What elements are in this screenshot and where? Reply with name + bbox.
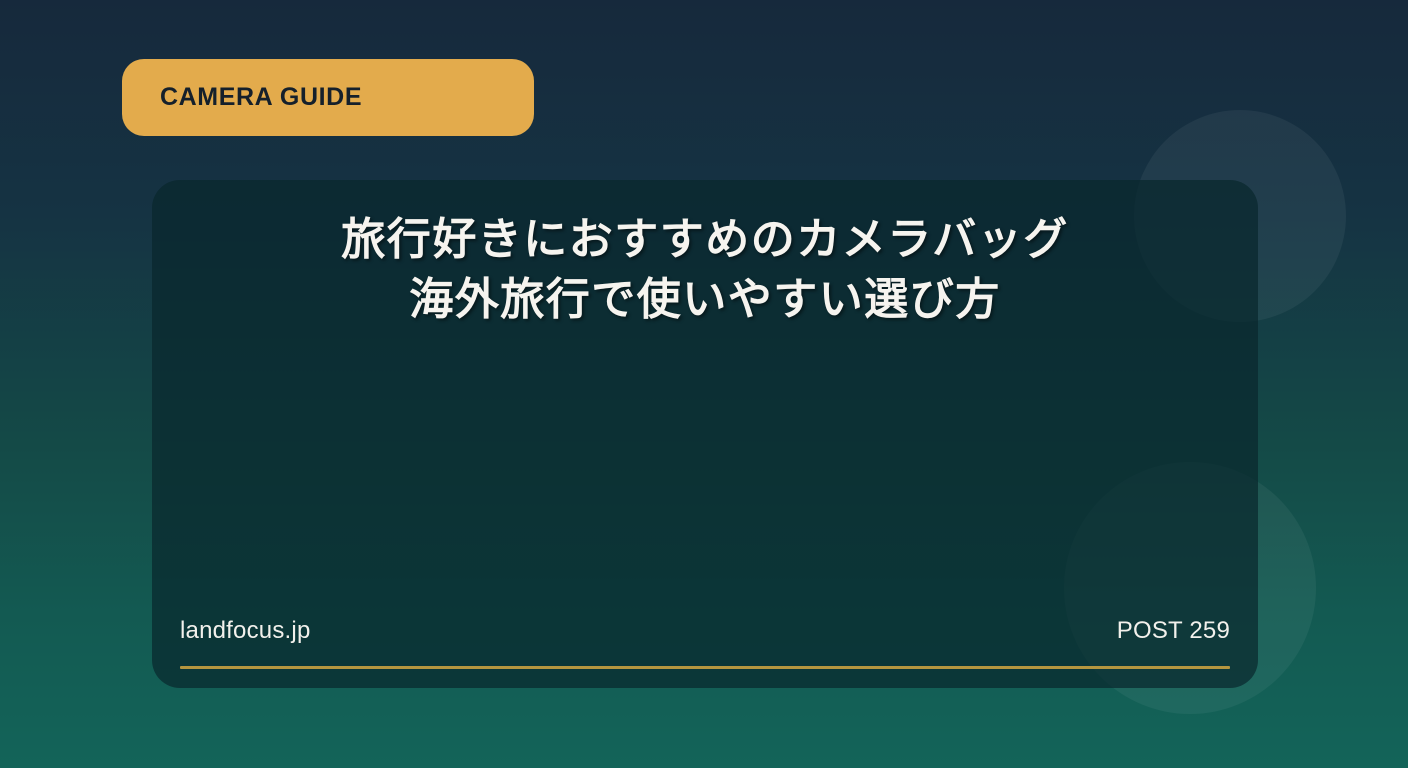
- category-badge[interactable]: CAMERA GUIDE: [122, 59, 534, 136]
- card-spacer: [152, 330, 1258, 617]
- post-number: POST 259: [1117, 617, 1230, 645]
- poster-stage: CAMERA GUIDE 旅行好きにおすすめのカメラバッグ 海外旅行で使いやすい…: [0, 0, 1408, 768]
- site-name: landfocus.jp: [180, 617, 311, 645]
- footer-divider: [180, 666, 1230, 669]
- article-card: 旅行好きにおすすめのカメラバッグ 海外旅行で使いやすい選び方 landfocus…: [152, 180, 1258, 688]
- title-line-1: 旅行好きにおすすめのカメラバッグ: [204, 210, 1206, 270]
- title-line-2: 海外旅行で使いやすい選び方: [204, 270, 1206, 330]
- page-title: 旅行好きにおすすめのカメラバッグ 海外旅行で使いやすい選び方: [152, 180, 1258, 330]
- category-badge-label: CAMERA GUIDE: [160, 83, 362, 112]
- card-footer: landfocus.jp POST 259: [152, 617, 1258, 645]
